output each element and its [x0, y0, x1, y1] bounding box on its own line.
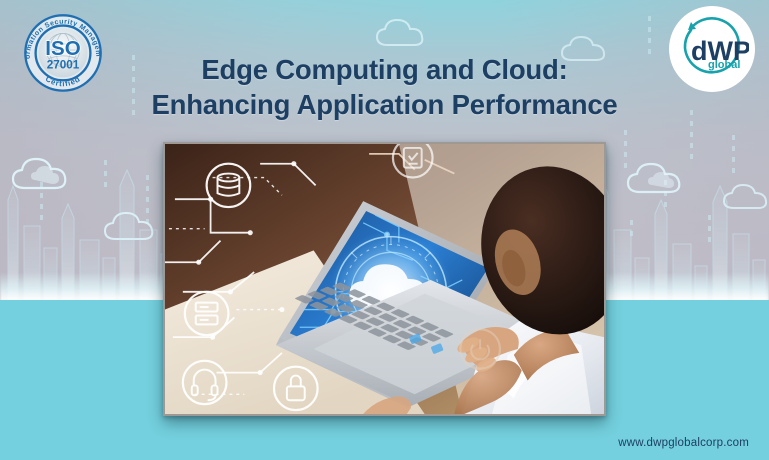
hero-photo-scene [165, 144, 604, 414]
title-line-1: Edge Computing and Cloud: [0, 52, 769, 87]
marketing-banner: Information Security Management Certifie… [0, 0, 769, 460]
banner-title: Edge Computing and Cloud: Enhancing Appl… [0, 52, 769, 122]
cloud-icon [370, 12, 440, 56]
hero-photo [163, 142, 606, 416]
title-line-2: Enhancing Application Performance [0, 87, 769, 122]
footer-website-url[interactable]: www.dwpglobalcorp.com [618, 437, 749, 449]
